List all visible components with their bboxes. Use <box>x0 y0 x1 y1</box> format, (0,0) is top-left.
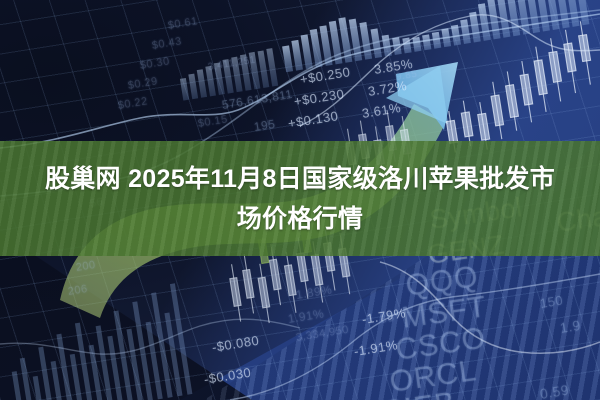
title-line-2: 场价格行情 <box>237 200 364 238</box>
banner-title: 股巢网 2025年11月8日国家级洛川苹果批发市 场价格行情 <box>0 141 600 256</box>
banner-image: SymbolChartGENZQQQMSFTCSCOORCLSIEB+$0.25… <box>0 0 600 400</box>
title-line-1: 股巢网 2025年11月8日国家级洛川苹果批发市 <box>45 160 555 198</box>
